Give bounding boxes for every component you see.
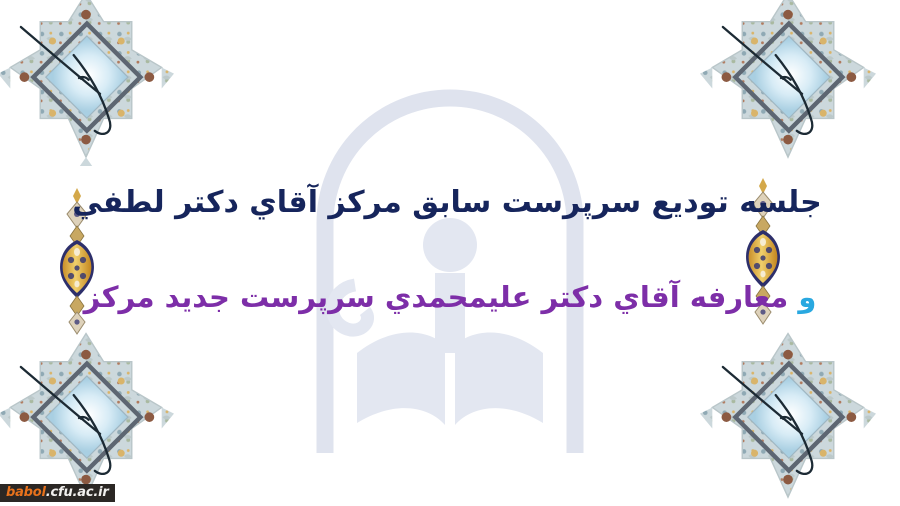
announcement-line-1: جلسه توديع سرپرست سابق مركز آقاي دكتر لط…	[0, 186, 900, 221]
announcement-text-block: جلسه توديع سرپرست سابق مركز آقاي دكتر لط…	[0, 186, 900, 314]
announcement-line-2: و معارفه آقاي دكتر عليمحمدي سرپرست جديد …	[0, 281, 900, 314]
persian-shamseh-medallion-top-left	[0, 0, 174, 166]
persian-shamseh-medallion-top-right	[700, 0, 876, 166]
persian-shamseh-medallion-bottom-right	[700, 330, 876, 506]
site-url-tld: .cfu.ac.ir	[46, 485, 109, 500]
site-url-watermark: babol.cfu.ac.ir	[0, 484, 115, 502]
site-url-brand: babol	[6, 485, 46, 500]
announcement-line-2-text: معارفه آقاي دكتر عليمحمدي سرپرست جديد مر…	[84, 280, 799, 314]
announcement-banner: جلسه توديع سرپرست سابق مركز آقاي دكتر لط…	[0, 0, 900, 506]
announcement-conjunction: و	[798, 280, 816, 314]
persian-shamseh-medallion-bottom-left	[0, 330, 174, 506]
